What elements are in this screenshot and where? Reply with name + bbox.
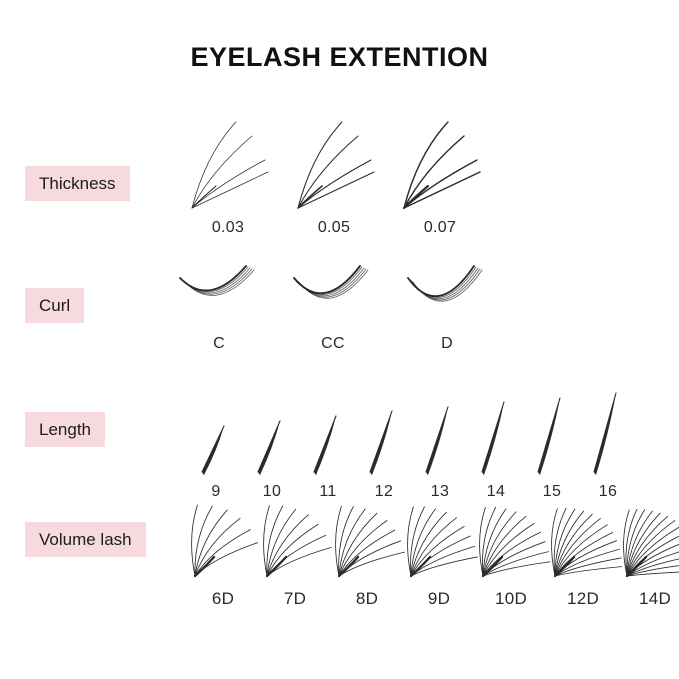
lash-icon-volume-12D xyxy=(550,492,616,589)
lash-icon-volume-8D xyxy=(334,492,400,589)
sample-caption: 10D xyxy=(495,589,527,609)
lash-icon-volume-7D xyxy=(262,492,328,589)
sample-volume-10D: 10D xyxy=(478,492,544,609)
page-title: EYELASH EXTENTION xyxy=(0,42,679,73)
sample-thickness-0.05: 0.05 xyxy=(292,120,376,237)
row-volume: Volume lash 6D7D8D9D10D12D14D16D xyxy=(0,492,679,607)
lash-icon-volume-9D xyxy=(406,492,472,589)
row-label-volume-lash: Volume lash xyxy=(25,522,146,557)
sample-curl-D: D xyxy=(404,262,490,353)
samples-thickness: 0.030.050.07 xyxy=(186,120,482,237)
sample-caption: 7D xyxy=(284,589,306,609)
sample-caption: 8D xyxy=(356,589,378,609)
lash-icon-thickness-0.03 xyxy=(186,120,270,217)
lash-icon-length-10 xyxy=(252,386,292,483)
row-length: Length 910111213141516 xyxy=(0,380,679,490)
sample-caption: 0.05 xyxy=(318,219,350,237)
sample-thickness-0.07: 0.07 xyxy=(398,120,482,237)
lash-icon-volume-14D xyxy=(622,492,679,589)
sample-curl-C: C xyxy=(176,262,262,353)
eyelash-extension-chart: EYELASH EXTENTION Thickness 0.030.050.07… xyxy=(0,0,679,679)
lash-icon-thickness-0.05 xyxy=(292,120,376,217)
sample-caption: CC xyxy=(321,335,345,353)
sample-curl-CC: CC xyxy=(290,262,376,353)
sample-length-14: 14 xyxy=(476,386,516,501)
sample-caption: 0.07 xyxy=(424,219,456,237)
lash-icon-length-16 xyxy=(588,386,628,483)
sample-caption: 0.03 xyxy=(212,219,244,237)
sample-caption: 6D xyxy=(212,589,234,609)
sample-length-11: 11 xyxy=(308,386,348,501)
samples-curl: CCCD xyxy=(176,262,490,353)
lash-icon-volume-10D xyxy=(478,492,544,589)
sample-volume-14D: 14D xyxy=(622,492,679,609)
sample-volume-12D: 12D xyxy=(550,492,616,609)
lash-icon-length-11 xyxy=(308,386,348,483)
sample-volume-8D: 8D xyxy=(334,492,400,609)
sample-caption: D xyxy=(441,335,453,353)
samples-volume: 6D7D8D9D10D12D14D16D xyxy=(190,492,679,609)
lash-icon-length-9 xyxy=(196,386,236,483)
lash-icon-length-12 xyxy=(364,386,404,483)
lash-icon-length-15 xyxy=(532,386,572,483)
row-label-thickness: Thickness xyxy=(25,166,130,201)
lash-icon-curl-CC xyxy=(290,262,376,329)
sample-length-9: 9 xyxy=(196,386,236,501)
sample-thickness-0.03: 0.03 xyxy=(186,120,270,237)
sample-length-10: 10 xyxy=(252,386,292,501)
lash-icon-length-14 xyxy=(476,386,516,483)
sample-length-16: 16 xyxy=(588,386,628,501)
sample-length-13: 13 xyxy=(420,386,460,501)
lash-icon-length-13 xyxy=(420,386,460,483)
sample-caption: 12D xyxy=(567,589,599,609)
row-thickness: Thickness 0.030.050.07 xyxy=(0,110,679,235)
sample-caption: 9D xyxy=(428,589,450,609)
lash-icon-curl-C xyxy=(176,262,262,329)
sample-caption: 14D xyxy=(639,589,671,609)
lash-icon-volume-6D xyxy=(190,492,256,589)
sample-length-15: 15 xyxy=(532,386,572,501)
samples-length: 910111213141516 xyxy=(196,386,628,501)
row-label-length: Length xyxy=(25,412,105,447)
sample-volume-9D: 9D xyxy=(406,492,472,609)
sample-caption: C xyxy=(213,335,225,353)
row-curl: Curl CCCD xyxy=(0,250,679,360)
sample-volume-7D: 7D xyxy=(262,492,328,609)
lash-icon-curl-D xyxy=(404,262,490,329)
sample-length-12: 12 xyxy=(364,386,404,501)
lash-icon-thickness-0.07 xyxy=(398,120,482,217)
sample-volume-6D: 6D xyxy=(190,492,256,609)
row-label-curl: Curl xyxy=(25,288,84,323)
